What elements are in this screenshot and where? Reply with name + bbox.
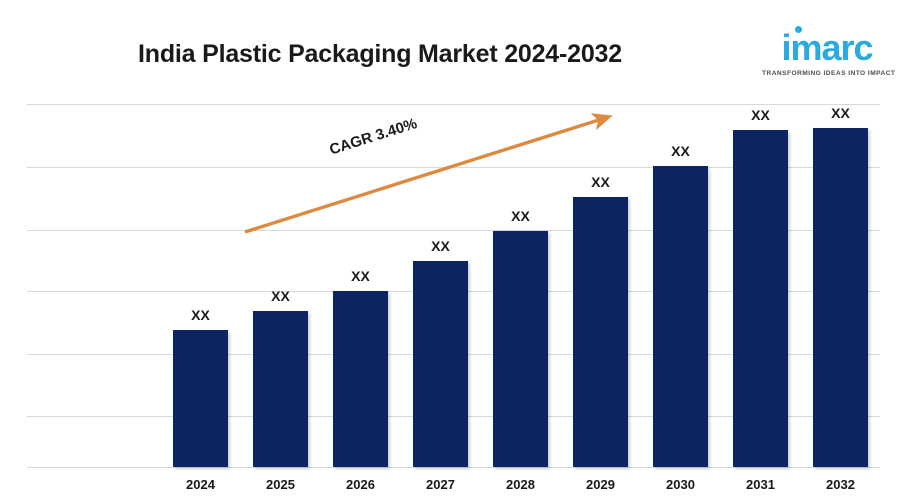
chart-canvas: India Plastic Packaging Market 2024-2032… (0, 0, 898, 498)
cagr-arrow (0, 0, 898, 498)
